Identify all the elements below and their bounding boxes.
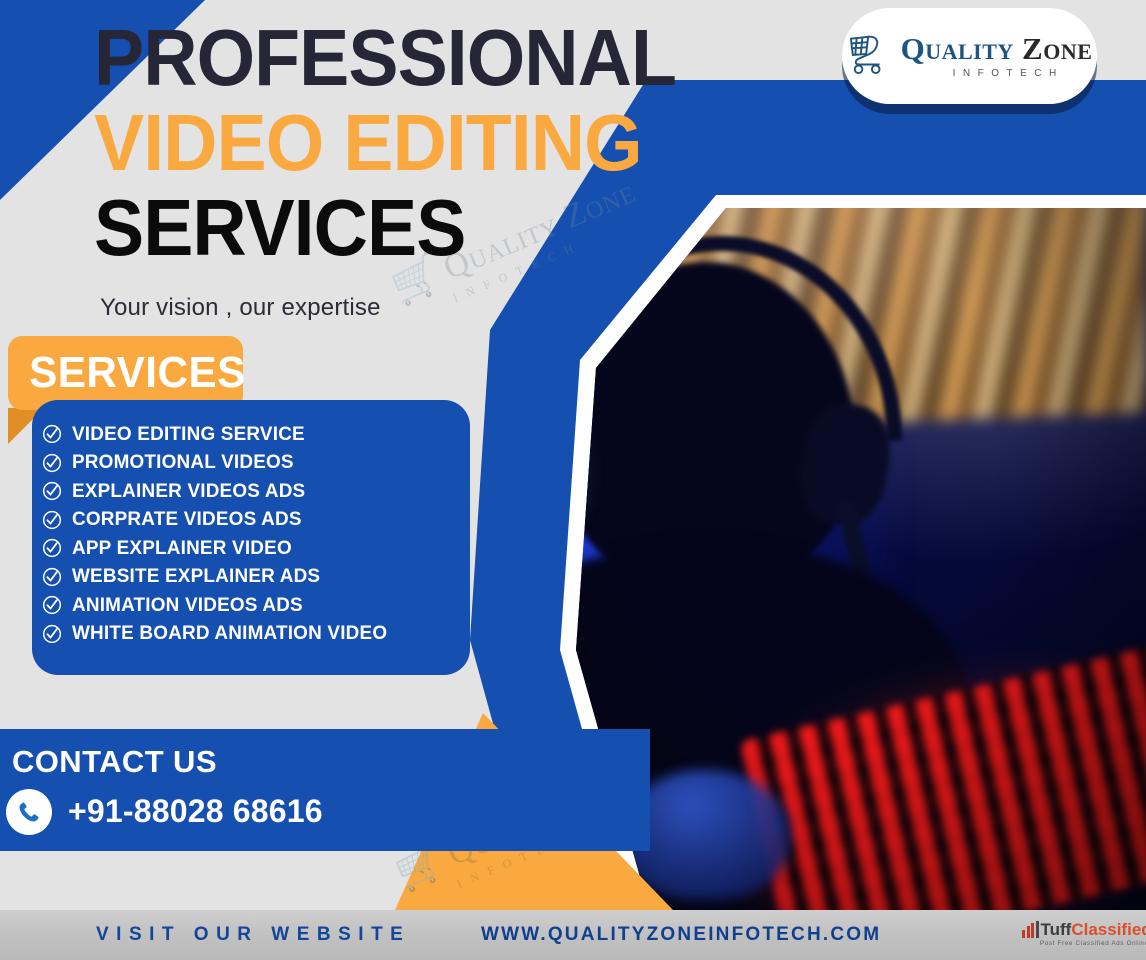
headline-line-3: SERVICES xyxy=(94,188,676,267)
tuffclassified-logo-row: TuffClassified xyxy=(1022,921,1146,938)
contact-title: CONTACT US xyxy=(12,744,217,780)
check-circle-icon xyxy=(42,510,62,530)
service-label: PROMOTIONAL VIDEOS xyxy=(72,451,294,474)
list-item[interactable]: WEBSITE EXPLAINER ADS xyxy=(42,563,472,592)
company-logo-badge[interactable]: Quality Zone INFOTECH xyxy=(842,8,1097,104)
phone-icon xyxy=(17,800,41,824)
list-item[interactable]: CORPRATE VIDEOS ADS xyxy=(42,506,472,535)
check-circle-icon xyxy=(42,424,62,444)
services-tab: SERVICES xyxy=(8,336,243,410)
list-item[interactable]: WHITE BOARD ANIMATION VIDEO xyxy=(42,620,472,649)
bar-chart-icon xyxy=(1022,921,1039,938)
headline-line-2: VIDEO EDITING xyxy=(94,103,676,182)
shopping-cart-icon xyxy=(847,33,893,75)
headline-line-1: PROFESSIONAL xyxy=(94,18,676,97)
check-circle-icon xyxy=(42,595,62,615)
tuff-name-part1: Tuff xyxy=(1041,920,1072,939)
footer-visit-label: VISIT OUR WEBSITE xyxy=(96,924,410,946)
check-circle-icon xyxy=(42,453,62,473)
service-label: APP EXPLAINER VIDEO xyxy=(72,537,292,560)
check-circle-icon xyxy=(42,538,62,558)
logo-name-quality: Quality xyxy=(901,31,1014,66)
check-circle-icon xyxy=(42,624,62,644)
service-label: EXPLAINER VIDEOS ADS xyxy=(72,480,305,503)
services-tab-label: SERVICES xyxy=(8,348,246,398)
tuffclassified-tagline: Post Free Classified Ads Online xyxy=(1022,940,1146,947)
services-list: VIDEO EDITING SERVICE PROMOTIONAL VIDEOS… xyxy=(42,420,472,648)
list-item[interactable]: VIDEO EDITING SERVICE xyxy=(42,420,472,449)
footer-website-url[interactable]: WWW.QUALITYZONEINFOTECH.COM xyxy=(481,924,881,946)
tuffclassified-name: TuffClassified xyxy=(1041,921,1146,938)
list-item[interactable]: PROMOTIONAL VIDEOS xyxy=(42,449,472,478)
service-label: CORPRATE VIDEOS ADS xyxy=(72,508,302,531)
service-label: WHITE BOARD ANIMATION VIDEO xyxy=(72,622,387,645)
check-circle-icon xyxy=(42,567,62,587)
phone-icon-badge[interactable] xyxy=(6,789,52,835)
service-label: ANIMATION VIDEOS ADS xyxy=(72,594,303,617)
tagline-text: Your vision , our expertise xyxy=(100,294,381,322)
logo-subtitle-infotech: INFOTECH xyxy=(901,69,1093,79)
check-circle-icon xyxy=(42,481,62,501)
contact-phone-number[interactable]: +91-88028 68616 xyxy=(68,793,323,830)
service-label: VIDEO EDITING SERVICE xyxy=(72,423,305,446)
logo-text-block: Quality Zone INFOTECH xyxy=(901,33,1093,79)
tuff-name-part2: Classified xyxy=(1071,920,1146,939)
poster-canvas: 🛒Quality Zone INFOTECH 🛒Quality Zone INF… xyxy=(0,0,1146,960)
logo-company-name: Quality Zone xyxy=(901,33,1093,64)
tuffclassified-watermark[interactable]: TuffClassified Post Free Classified Ads … xyxy=(1022,921,1146,947)
footer-bar: VISIT OUR WEBSITE WWW.QUALITYZONEINFOTEC… xyxy=(0,910,1146,960)
list-item[interactable]: ANIMATION VIDEOS ADS xyxy=(42,591,472,620)
service-label: WEBSITE EXPLAINER ADS xyxy=(72,565,320,588)
headline-block: PROFESSIONAL VIDEO EDITING SERVICES xyxy=(94,18,713,268)
list-item[interactable]: APP EXPLAINER VIDEO xyxy=(42,534,472,563)
logo-name-zone: Zone xyxy=(1022,31,1092,66)
list-item[interactable]: EXPLAINER VIDEOS ADS xyxy=(42,477,472,506)
